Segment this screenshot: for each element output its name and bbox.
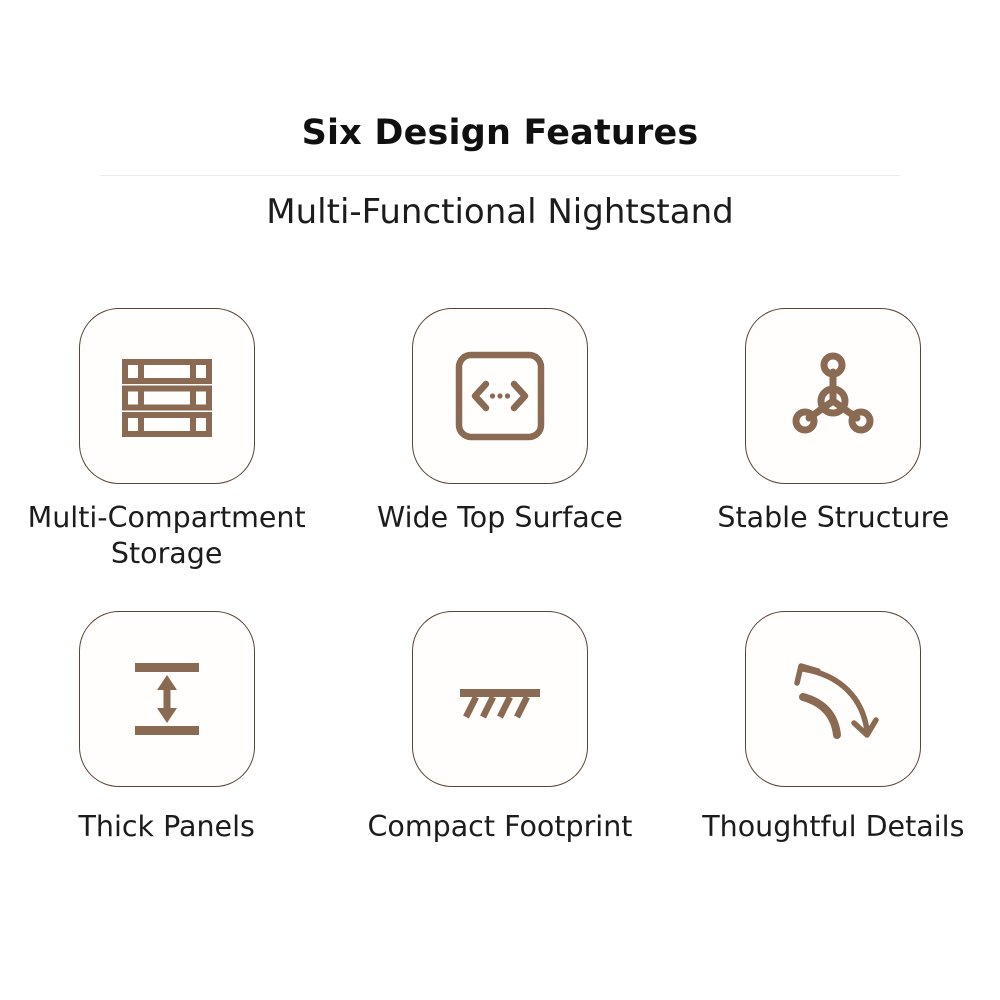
thickness-arrow-icon (117, 649, 217, 749)
feature-label: Thoughtful Details (702, 809, 964, 845)
page-title: Six Design Features (0, 0, 1000, 153)
width-arrows-icon (450, 346, 550, 446)
feature-grid: Multi-Compartment Storage Wide Top Surfa… (0, 308, 1000, 845)
molecule-nodes-icon (783, 346, 883, 446)
feature-label: Stable Structure (717, 500, 949, 536)
feature-icon-card (79, 611, 255, 787)
feature-icon-card (412, 611, 588, 787)
feature-icon-card (745, 308, 921, 484)
feature-item-compact-footprint: Compact Footprint (333, 611, 666, 845)
feature-item-wide-top-surface: Wide Top Surface (333, 308, 666, 571)
curved-double-arrow-icon (783, 649, 883, 749)
feature-item-multi-compartment-storage: Multi-Compartment Storage (0, 308, 333, 571)
header: Six Design Features Multi-Functional Nig… (0, 0, 1000, 232)
feature-item-thoughtful-details: Thoughtful Details (667, 611, 1000, 845)
feature-icon-card (79, 308, 255, 484)
drawers-icon (117, 346, 217, 446)
table-legs-icon (450, 649, 550, 749)
infographic-page: Six Design Features Multi-Functional Nig… (0, 0, 1000, 1000)
feature-icon-card (745, 611, 921, 787)
feature-label: Multi-Compartment Storage (28, 500, 306, 571)
feature-item-thick-panels: Thick Panels (0, 611, 333, 845)
page-subtitle: Multi-Functional Nightstand (0, 176, 1000, 232)
feature-label: Thick Panels (78, 809, 254, 845)
feature-item-stable-structure: Stable Structure (667, 308, 1000, 571)
feature-label: Compact Footprint (368, 809, 633, 845)
feature-icon-card (412, 308, 588, 484)
feature-label: Wide Top Surface (377, 500, 623, 536)
